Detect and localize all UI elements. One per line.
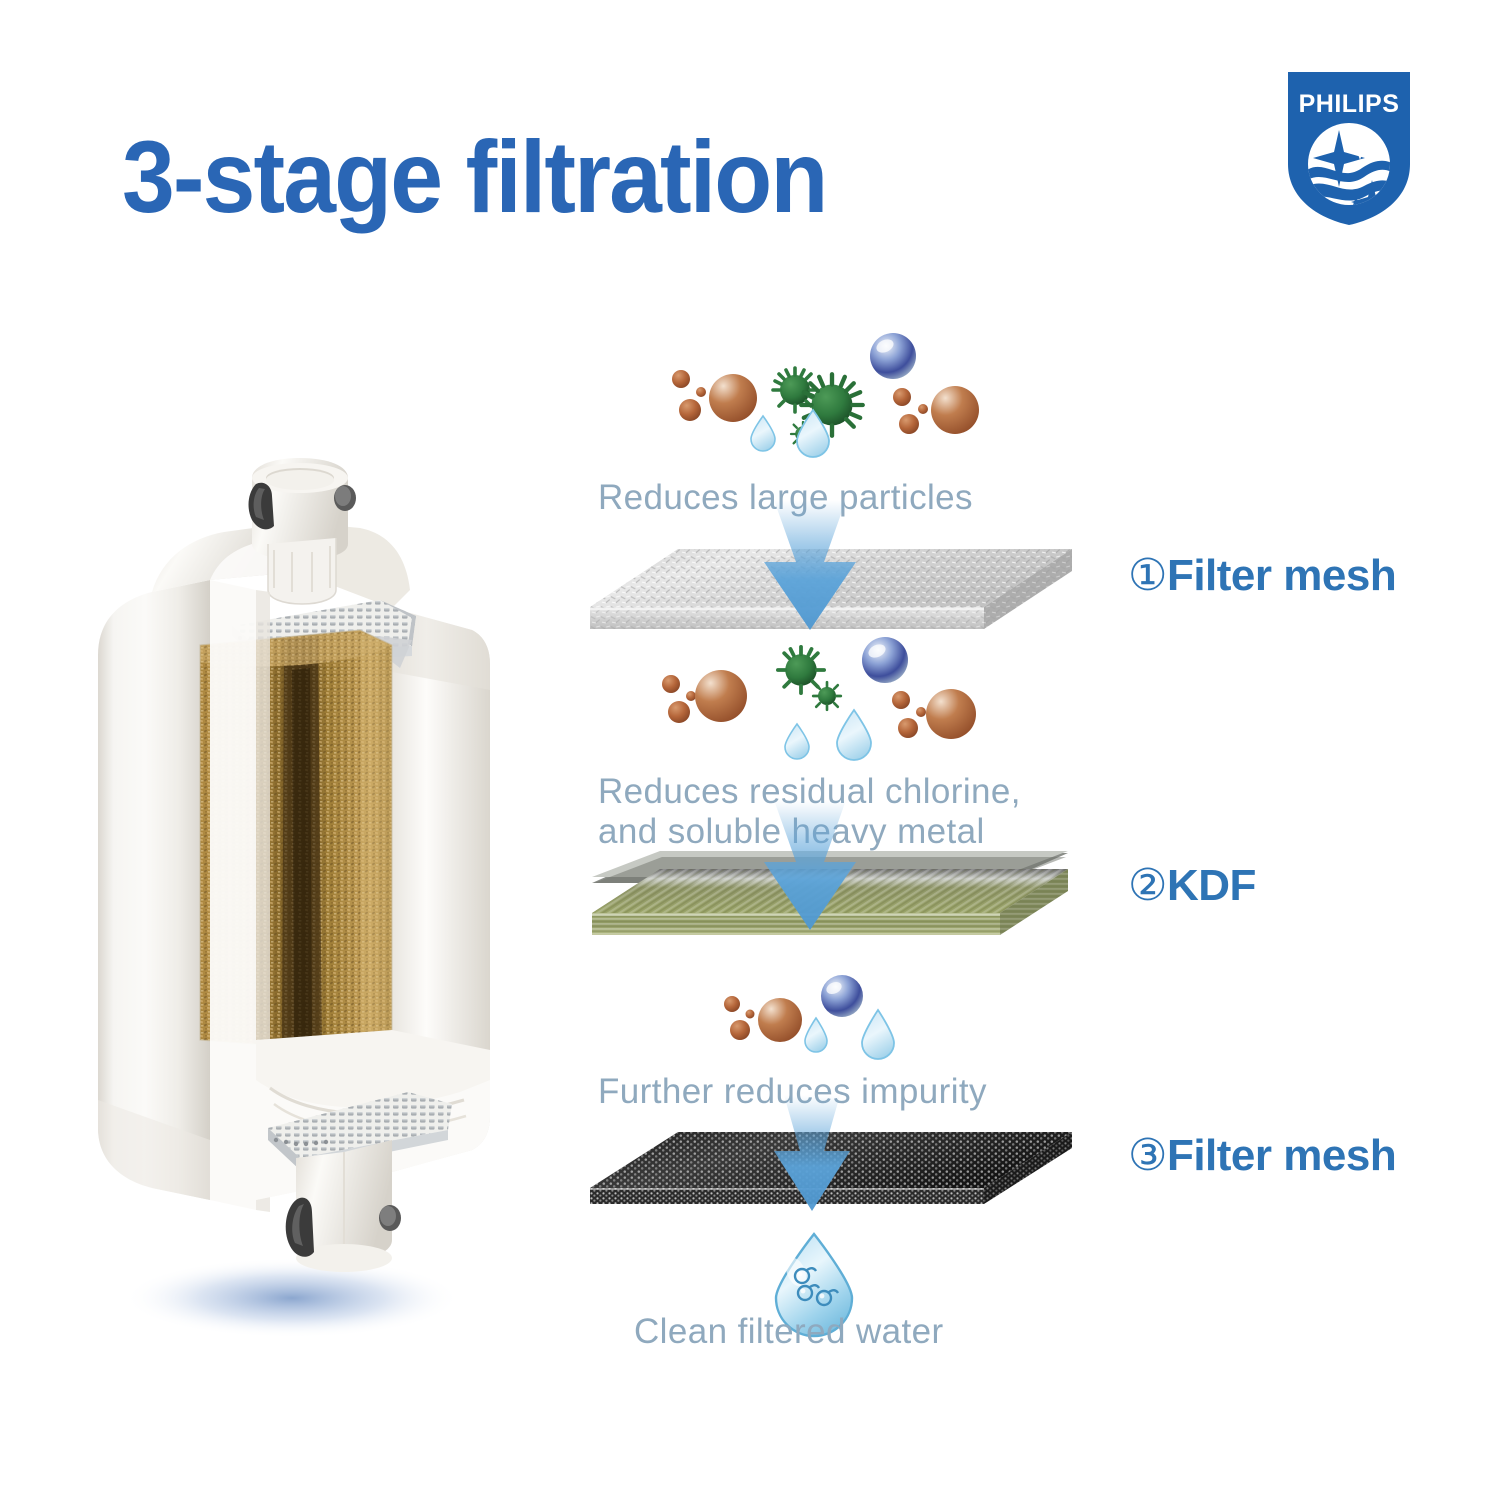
bubble-sphere bbox=[870, 333, 916, 379]
rust-particle bbox=[899, 414, 919, 434]
philips-shield-logo: PHILIPS bbox=[1286, 68, 1412, 228]
stage-label-text-2: KDF bbox=[1167, 861, 1256, 910]
water-filter-cartridge-cutaway bbox=[60, 440, 520, 1360]
rust-particle bbox=[695, 670, 747, 722]
contaminant-cluster-3 bbox=[702, 978, 932, 1074]
stage-label-1: ①Filter mesh bbox=[1128, 550, 1396, 601]
rust-particle bbox=[672, 370, 690, 388]
water-droplet bbox=[805, 1010, 894, 1059]
stage-number-2: ② bbox=[1128, 861, 1167, 910]
stage-label-2: ②KDF bbox=[1128, 860, 1256, 911]
rust-particle bbox=[730, 1020, 750, 1040]
rust-particle bbox=[668, 701, 690, 723]
water-droplet bbox=[785, 710, 871, 760]
contaminant-cluster-1 bbox=[655, 328, 985, 448]
contaminant-cluster-2 bbox=[645, 648, 985, 768]
stage-label-text-1: Filter mesh bbox=[1167, 551, 1396, 600]
rust-particle bbox=[931, 386, 979, 434]
rust-particle bbox=[724, 996, 740, 1012]
microbe bbox=[778, 647, 841, 710]
rust-particle bbox=[892, 691, 910, 709]
rust-particle bbox=[926, 689, 976, 739]
rust-particle bbox=[898, 718, 918, 738]
output-caption: Clean filtered water bbox=[634, 1312, 944, 1352]
flow-arrow-2 bbox=[752, 800, 868, 939]
rust-particle bbox=[662, 675, 680, 693]
rust-particle bbox=[746, 1010, 755, 1019]
page-title: 3-stage filtration bbox=[122, 126, 826, 228]
rust-particle bbox=[916, 707, 926, 717]
philips-wordmark: PHILIPS bbox=[1299, 90, 1400, 118]
stage-label-text-3: Filter mesh bbox=[1167, 1131, 1396, 1180]
stage-label-3: ③Filter mesh bbox=[1128, 1130, 1396, 1181]
rust-particle bbox=[679, 399, 701, 421]
flow-arrow-3 bbox=[764, 1095, 860, 1220]
flow-arrow-1 bbox=[752, 500, 868, 639]
rust-particle bbox=[758, 998, 802, 1042]
bubble-sphere bbox=[862, 637, 908, 683]
stage-number-3: ③ bbox=[1128, 1131, 1167, 1180]
rust-particle bbox=[696, 387, 706, 397]
rust-particle bbox=[893, 388, 911, 406]
stage-number-1: ① bbox=[1128, 551, 1167, 600]
rust-particle bbox=[918, 404, 928, 414]
bubble-sphere bbox=[821, 975, 863, 1017]
rust-particle bbox=[709, 374, 757, 422]
rust-particle bbox=[686, 691, 696, 701]
